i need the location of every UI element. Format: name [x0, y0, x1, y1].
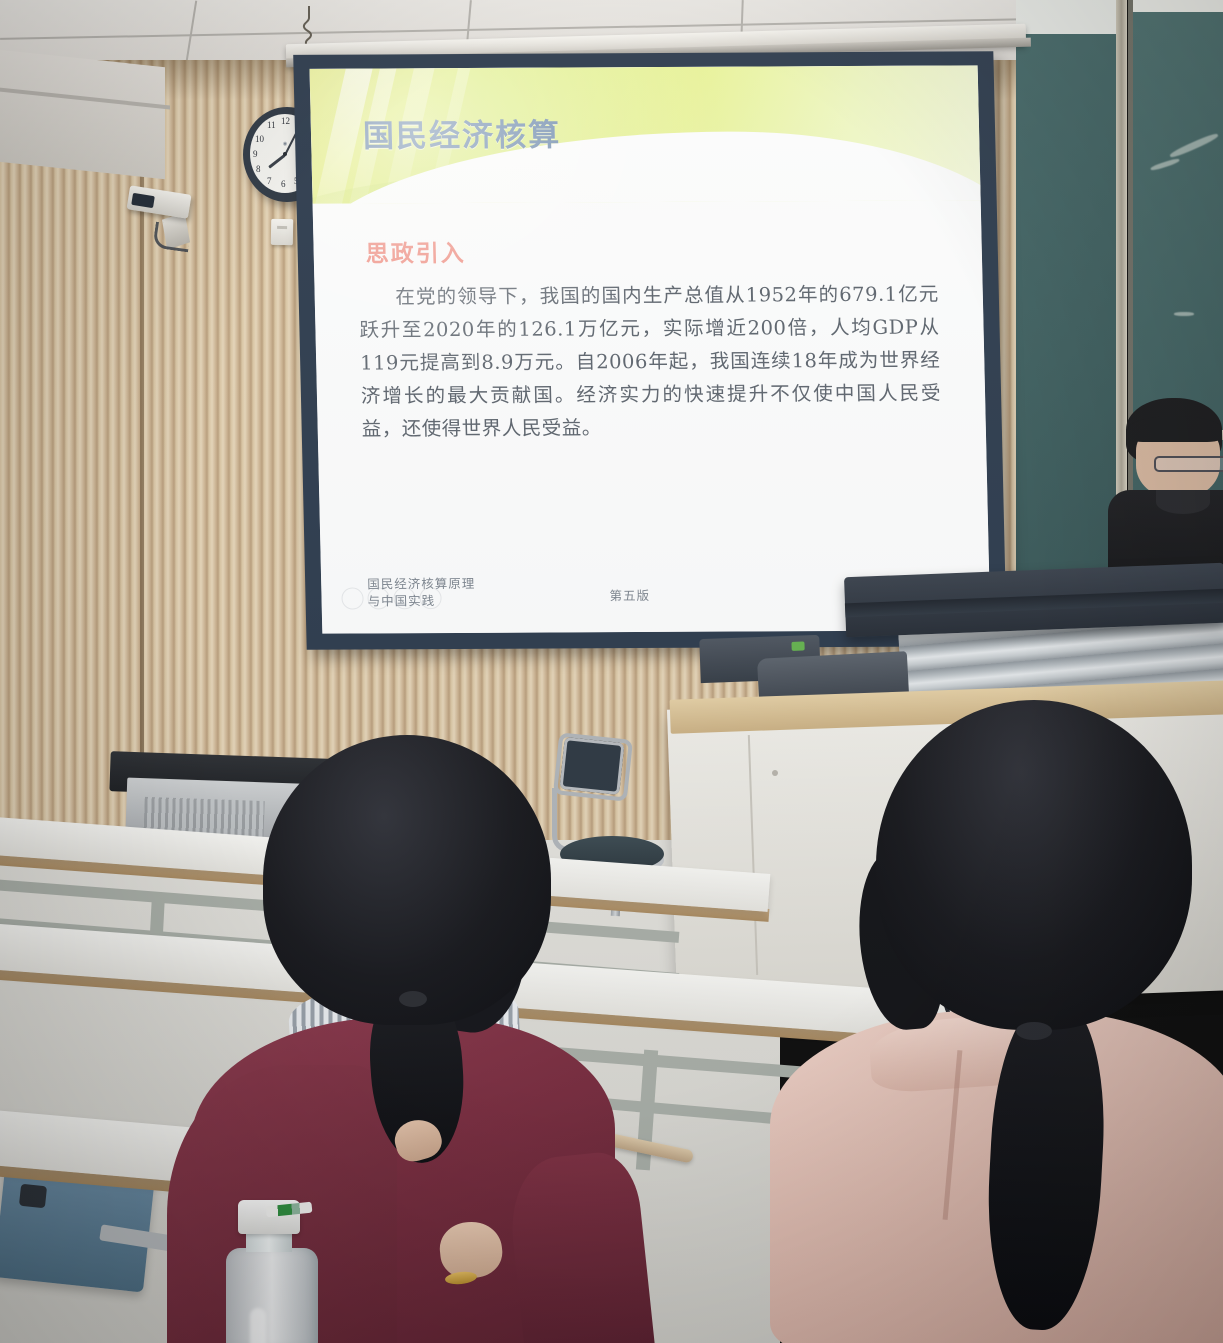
- projection-screen: 国民经济核算 思政引入 在党的领导下，我国的国内生产总值从1952年的679.1…: [293, 51, 1007, 650]
- student-hair: [263, 735, 551, 1025]
- clock-brand-mark: ◉: [283, 141, 287, 147]
- clock-numeral: 12: [281, 116, 290, 126]
- bottle-cap-label: [266, 1202, 313, 1218]
- light-switch-plate[interactable]: [271, 219, 293, 245]
- security-camera: [128, 190, 210, 265]
- seat-hardware: [19, 1184, 47, 1209]
- footer-line-2: 与中国实践: [367, 592, 475, 610]
- hair-tie: [1016, 1022, 1052, 1040]
- lectern-screw: [772, 770, 778, 776]
- ceiling-hook-icon: [300, 6, 316, 46]
- chalkboard-top-white: [1016, 0, 1122, 38]
- student-hair: [876, 700, 1192, 1030]
- instructor-collar: [1156, 490, 1210, 514]
- clock-numeral: 6: [281, 179, 286, 189]
- classroom-scene: ◉ 12 1 2 3 4 5 6 7 8 9 10 11: [0, 0, 1223, 1343]
- bottle-highlight: [250, 1308, 266, 1343]
- clock-numeral: 9: [253, 149, 258, 159]
- camera-cable: [152, 222, 191, 253]
- slide-title: 国民经济核算: [362, 110, 561, 156]
- projection-surface: 国民经济核算 思政引入 在党的领导下，我国的国内生产总值从1952年的679.1…: [310, 65, 991, 633]
- clock-numeral: 8: [256, 164, 261, 174]
- clock-numeral: 11: [267, 120, 276, 130]
- ceiling-soffit: [0, 49, 165, 179]
- chalkboard-panel: [1016, 34, 1120, 594]
- hair-tie: [399, 991, 427, 1007]
- camera-body: [127, 185, 192, 218]
- camera-lens-icon: [131, 193, 155, 208]
- water-bottle[interactable]: [218, 1200, 326, 1343]
- footer-line-1: 国民经济核算原理: [367, 575, 475, 593]
- instructor-hair-front: [1128, 416, 1222, 442]
- powerpoint-slide: 国民经济核算 思政引入 在党的领导下，我国的国内生产总值从1952年的679.1…: [310, 65, 991, 633]
- student-pink-shirt: [800, 700, 1223, 1343]
- clock-hour-hand: [268, 154, 285, 168]
- clock-numeral: 10: [255, 134, 264, 144]
- glasses-icon: [1154, 456, 1223, 472]
- clock-center-pin: [283, 152, 287, 156]
- device-indicator-icon: [791, 641, 804, 650]
- clock-numeral: 7: [267, 176, 272, 186]
- bottle-body: [226, 1248, 318, 1343]
- slide-body-text: 在党的领导下，我国的国内生产总值从1952年的679.1亿元跃升至2020年的1…: [358, 277, 942, 445]
- bottle-cap: [238, 1200, 300, 1234]
- slide-section-heading: 思政引入: [365, 234, 466, 269]
- slide-body-line: 使得世界人民受益。: [421, 416, 602, 440]
- slide-edition-label: 第五版: [609, 585, 650, 604]
- slide-footer-title: 国民经济核算原理 与中国实践: [367, 575, 476, 610]
